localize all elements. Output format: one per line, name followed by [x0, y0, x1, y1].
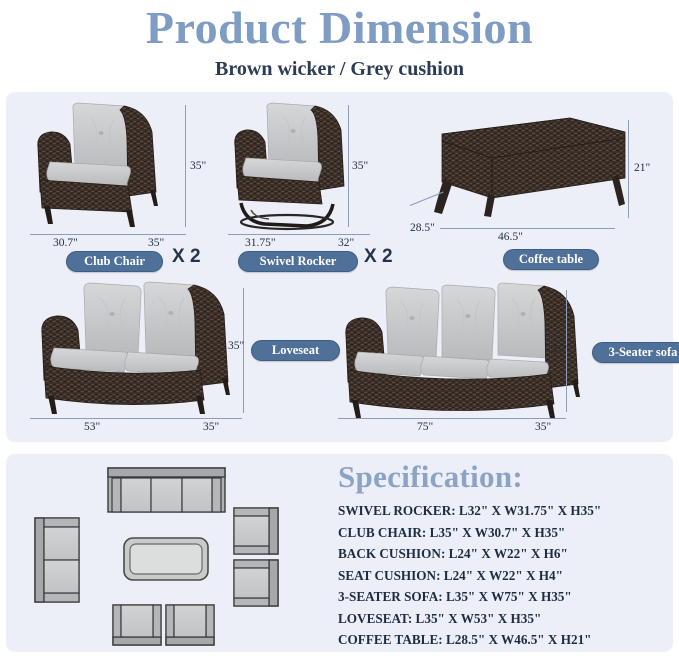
- badge-coffee-table: Coffee table: [503, 249, 599, 270]
- coffee-table-depth-line: [440, 228, 615, 229]
- page-subtitle: Brown wicker / Grey cushion: [0, 56, 679, 82]
- loveseat-height-label: 35": [228, 340, 244, 352]
- spec-line-three-seater-sofa: 3-SEATER SOFA: L35" X W75" X H35": [338, 586, 674, 608]
- club-chair-width-line: [30, 234, 140, 235]
- loveseat-depth-line: [186, 418, 242, 419]
- swivel-rocker-height-label: 35": [352, 160, 368, 172]
- three-seater-height-label: 35": [551, 344, 567, 356]
- layout-chair-bottom-left: [113, 605, 161, 645]
- club-chair-quantity: X 2: [172, 246, 201, 268]
- product-dimension-infographic: Product Dimension Brown wicker / Grey cu…: [0, 0, 679, 656]
- layout-chair-right-upper: [234, 508, 278, 554]
- spec-line-loveseat: LOVESEAT: L35" X W53" X H35": [338, 608, 674, 630]
- club-chair-height-line: [185, 105, 186, 227]
- swivel-rocker-width-line: [228, 234, 328, 235]
- badge-three-seater-sofa: 3-Seater sofa: [592, 342, 679, 363]
- swivel-rocker-quantity: X 2: [364, 246, 393, 268]
- three-seater-sofa-illustration: [336, 276, 586, 421]
- coffee-table-illustration: [420, 112, 635, 222]
- specification-list: SWIVEL ROCKER: L32" X W31.75" X H35" CLU…: [338, 500, 674, 651]
- layout-diagram: [20, 462, 330, 648]
- coffee-table-height-line: [628, 120, 629, 218]
- coffee-table-depth-label: 46.5": [498, 231, 523, 243]
- three-seater-depth-line: [528, 418, 566, 419]
- three-seater-depth-label: 35": [535, 421, 551, 433]
- swivel-rocker-depth-line: [328, 234, 370, 235]
- spec-line-seat-cushion: SEAT CUSHION: L24" X W22" X H4": [338, 565, 674, 587]
- club-chair-height-label: 35": [190, 160, 206, 172]
- layout-chair-right-lower: [234, 560, 278, 606]
- three-seater-width-label: 75": [417, 421, 433, 433]
- page-title: Product Dimension: [0, 2, 679, 54]
- spec-line-swivel-rocker: SWIVEL ROCKER: L32" X W31.75" X H35": [338, 500, 674, 522]
- loveseat-width-label: 53": [84, 421, 100, 433]
- swivel-rocker-width-label: 31.75": [245, 237, 276, 249]
- layout-coffee-table: [124, 538, 208, 580]
- spec-line-coffee-table: COFFEE TABLE: L28.5" X W46.5" X H21": [338, 629, 674, 651]
- loveseat-depth-label: 35": [203, 421, 219, 433]
- club-chair-illustration: [28, 100, 188, 228]
- loveseat-illustration: [28, 278, 238, 418]
- club-chair-depth-label: 35": [148, 237, 164, 249]
- club-chair-depth-line: [140, 234, 186, 235]
- club-chair-width-label: 30.7": [53, 237, 78, 249]
- layout-loveseat: [35, 518, 79, 602]
- swivel-rocker-height-line: [348, 105, 349, 227]
- coffee-table-height-label: 21": [634, 162, 650, 174]
- badge-swivel-rocker: Swivel Rocker: [238, 251, 358, 272]
- specification-title: Specification:: [338, 459, 523, 495]
- spec-line-club-chair: CLUB CHAIR: L35" X W30.7" X H35": [338, 522, 674, 544]
- loveseat-width-line: [30, 418, 186, 419]
- badge-loveseat: Loveseat: [251, 340, 340, 361]
- badge-club-chair: Club Chair: [66, 251, 163, 272]
- swivel-rocker-depth-label: 32": [338, 237, 354, 249]
- layout-three-seater: [108, 468, 225, 512]
- three-seater-width-line: [338, 418, 528, 419]
- layout-chair-bottom-right: [166, 605, 214, 645]
- spec-line-back-cushion: BACK CUSHION: L24" X W22" X H6": [338, 543, 674, 565]
- coffee-table-width-label: 28.5": [410, 222, 435, 234]
